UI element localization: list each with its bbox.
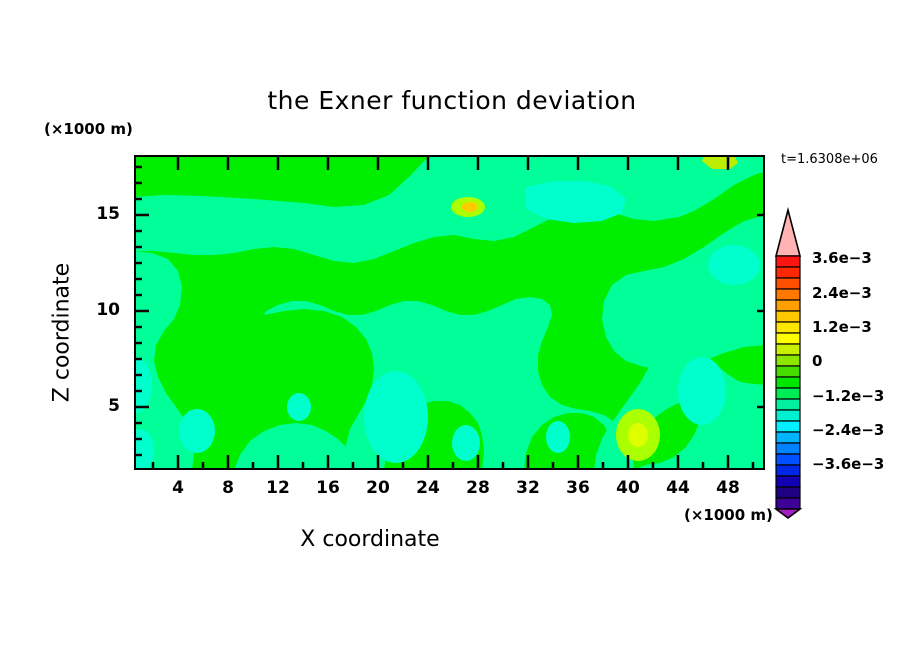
contour-field	[134, 155, 765, 470]
time-annotation: t=1.6308e+06	[781, 152, 878, 167]
x-tick-label: 32	[508, 478, 548, 498]
x-tick-label: 4	[158, 478, 198, 498]
x-tick-label: 8	[208, 478, 248, 498]
contour-patch-aqua-left-mid	[179, 409, 215, 453]
contour-patch-aqua-center	[364, 371, 428, 463]
x-tick-label: 12	[258, 478, 298, 498]
contour-patch-aqua-upper-right	[708, 245, 760, 285]
colorbar-tick-label: 1.2e−3	[812, 318, 872, 336]
colorbar-tick-label: −2.4e−3	[812, 421, 884, 439]
colorbar-arrow-bottom	[776, 509, 800, 518]
colorbar-tick-label: 2.4e−3	[812, 284, 872, 302]
x-axis-units-label: (×1000 m)	[684, 506, 773, 524]
contour-patch-aqua-center-low	[452, 425, 480, 461]
contour-patch-aqua-right-low	[546, 421, 570, 453]
colorbar-arrow-top	[776, 210, 800, 256]
colorbar-tick-label: −3.6e−3	[812, 455, 884, 473]
x-tick-label: 40	[608, 478, 648, 498]
colorbar-tick-label: −1.2e−3	[812, 387, 884, 405]
page-title: the Exner function deviation	[0, 86, 904, 115]
x-tick-label: 24	[408, 478, 448, 498]
x-tick-label: 16	[308, 478, 348, 498]
colorbar-tick-label: 3.6e−3	[812, 249, 872, 267]
x-tick-label: 48	[708, 478, 748, 498]
x-axis-title: X coordinate	[0, 527, 740, 552]
contour-blob-core-lowerright	[628, 423, 648, 447]
contour-blob-orange-top	[462, 202, 478, 212]
colorbar-tick-label: 0	[812, 352, 822, 370]
plot-canvas: the Exner function deviation (×1000 m) (…	[0, 0, 904, 654]
x-tick-label: 44	[658, 478, 698, 498]
x-tick-label: 36	[558, 478, 598, 498]
colorbar-bands	[776, 256, 800, 509]
y-axis-units-label: (×1000 m)	[44, 120, 133, 138]
y-axis-title: Z coordinate	[50, 233, 75, 433]
contour-patch-aqua-small	[287, 393, 311, 421]
x-tick-label: 28	[458, 478, 498, 498]
contour-patch-aqua-right	[678, 357, 726, 425]
y-tick-label: 15	[88, 204, 120, 224]
y-tick-label: 10	[88, 300, 120, 320]
x-tick-label: 20	[358, 478, 398, 498]
y-tick-label: 5	[88, 396, 120, 416]
